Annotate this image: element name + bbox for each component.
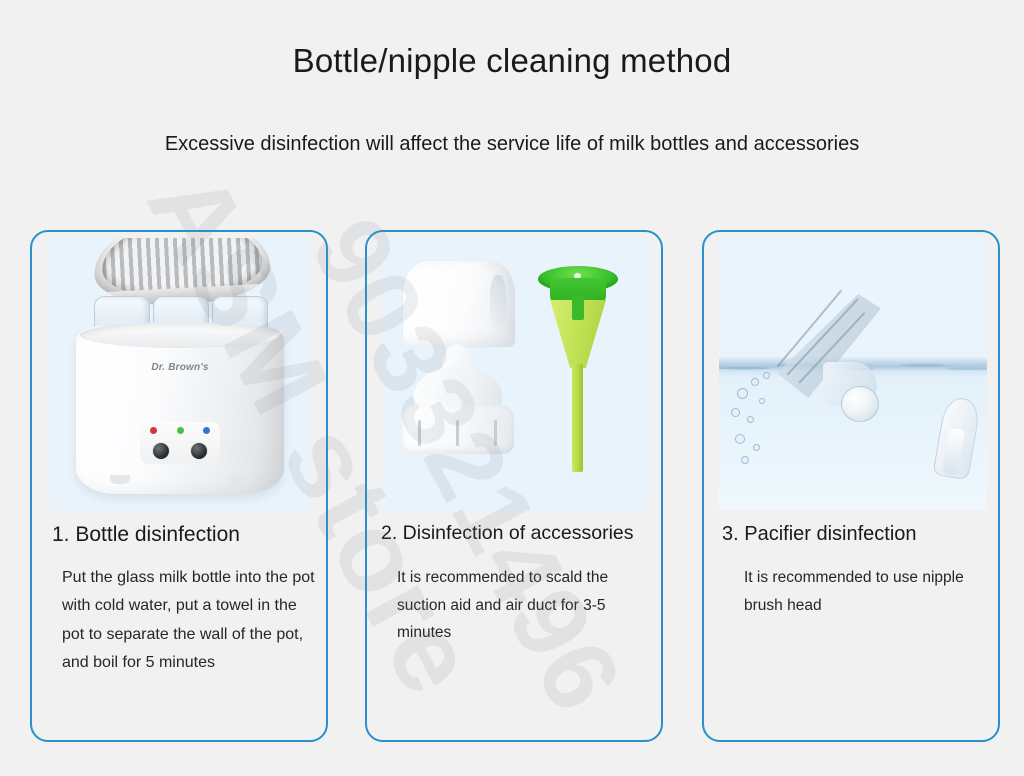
card-pacifier-disinfection: 3. Pacifier disinfection It is recommend…: [702, 230, 1000, 742]
card-bottle-disinfection: Dr. Brown's 1. Bottle disinfection Put t…: [30, 230, 328, 742]
collar-slot: [494, 420, 497, 446]
card-2-heading: 2. Disinfection of accessories: [381, 522, 661, 545]
card-3-media: [719, 238, 987, 510]
sterilizer-control-panel: [140, 422, 220, 464]
card-3-body: It is recommended to use nipple brush he…: [744, 564, 984, 619]
card-1-body: Put the glass milk bottle into the pot w…: [62, 564, 316, 678]
card-2-body: It is recommended to scald the suction a…: [397, 564, 649, 647]
sterilizer-image: Dr. Brown's: [50, 238, 310, 510]
sterilizer-body: [76, 326, 284, 494]
collar-slot: [456, 420, 459, 446]
card-list: Dr. Brown's 1. Bottle disinfection Put t…: [0, 230, 1024, 745]
card-3-heading: 3. Pacifier disinfection: [722, 522, 990, 546]
page-subtitle: Excessive disinfection will affect the s…: [0, 133, 1024, 156]
sterilizer-power-button[interactable]: [152, 442, 170, 460]
page-title: Bottle/nipple cleaning method: [0, 42, 1024, 80]
bubble: [763, 372, 770, 379]
sterilizer-button-row: [152, 442, 208, 460]
sterilizer-foot-right: [230, 475, 250, 484]
shield-bulb: [841, 386, 879, 422]
sterilizer-mode-button[interactable]: [190, 442, 208, 460]
led-green-icon: [177, 427, 184, 434]
bubble: [735, 434, 745, 444]
led-red-icon: [150, 427, 157, 434]
card-1-heading: 1. Bottle disinfection: [52, 522, 320, 547]
bubble: [741, 456, 749, 464]
air-vent-slot: [572, 296, 584, 320]
bubble: [751, 378, 759, 386]
card-accessory-disinfection: 2. Disinfection of accessories It is rec…: [365, 230, 663, 742]
led-blue-icon: [203, 427, 210, 434]
bubble: [731, 408, 740, 417]
bottle-cap-icon: [402, 260, 516, 348]
air-duct-stem-icon: [572, 364, 583, 472]
bubble: [737, 388, 748, 399]
water-scene-image: [719, 238, 987, 510]
accessories-image: [382, 238, 648, 510]
card-1-media: Dr. Brown's: [50, 238, 310, 510]
sterilizer-brand-label: Dr. Brown's: [132, 362, 228, 373]
nipple-collar-icon: [402, 406, 514, 454]
bubble: [753, 444, 760, 451]
sterilizer-foot-left: [110, 475, 130, 484]
bubble: [747, 416, 754, 423]
bubble: [759, 398, 765, 404]
card-2-media: [382, 238, 648, 510]
sterilizer-led-row: [150, 427, 210, 434]
collar-slot: [418, 420, 421, 446]
sterilizer-top-rim: [80, 322, 280, 348]
pacifier-shield-icon: [777, 294, 895, 418]
